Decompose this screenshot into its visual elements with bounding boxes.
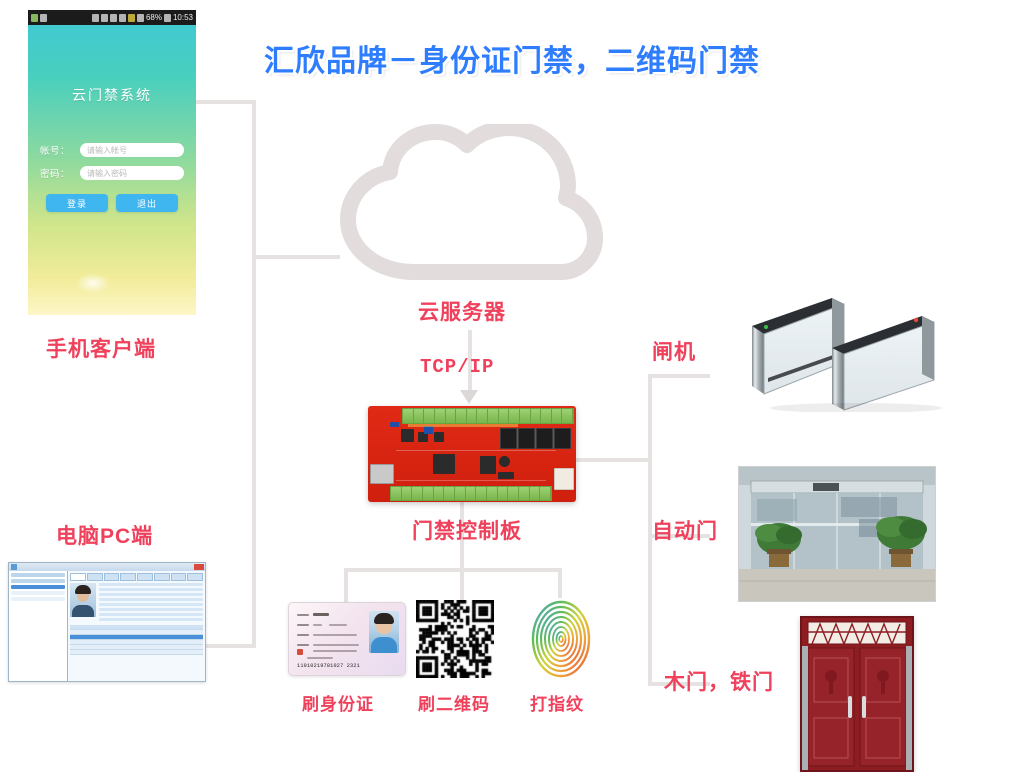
wood-iron-door-image — [800, 616, 914, 772]
idc-portrait-body — [371, 637, 397, 653]
status-left-icons — [31, 14, 47, 22]
trimmer — [390, 422, 399, 427]
capacitor-blue — [424, 426, 433, 434]
account-input[interactable]: 请输入帐号 — [80, 143, 184, 157]
connector-inputs-bar — [344, 568, 562, 572]
automatic-door-caption: 自动门 — [652, 515, 718, 545]
qr-code-image — [416, 600, 494, 678]
cloud-server-caption: 云服务器 — [418, 296, 506, 326]
pc-software-image — [8, 562, 206, 682]
ic-4 — [498, 472, 514, 479]
idc-portrait-hair — [374, 613, 394, 624]
app-title: 云门禁系统 — [28, 85, 196, 105]
pc-left-pane — [9, 571, 68, 681]
fingerprint-icon — [530, 598, 592, 678]
password-label: 密码： — [40, 166, 80, 180]
controller-board — [368, 406, 576, 502]
idc-key-2 — [297, 624, 309, 626]
pc-app-icon — [11, 564, 17, 570]
phone-client-caption: 手机客户端 — [46, 333, 156, 363]
password-input[interactable]: 请输入密码 — [80, 166, 184, 180]
pc-list-row — [11, 597, 65, 601]
rj45-connector — [370, 464, 394, 484]
memory-chip — [480, 456, 496, 474]
alarm-icon — [101, 14, 108, 22]
pc-tab — [187, 573, 203, 581]
led-row — [408, 424, 518, 427]
arrow-down-icon — [460, 390, 478, 404]
phone-glow — [76, 273, 110, 293]
cloud-icon — [336, 124, 606, 294]
pc-tab-strip — [70, 573, 203, 581]
pc-portrait — [70, 583, 96, 617]
battery-icon — [164, 14, 171, 22]
pcb-trace-1 — [396, 450, 556, 451]
connector-turnstile — [648, 374, 710, 378]
battery-percent: 68% — [146, 14, 162, 22]
terminal-bottom — [390, 486, 552, 501]
idc-key-3 — [297, 634, 309, 636]
pc-client-caption: 电脑PC端 — [56, 520, 153, 550]
connector-left-spine — [252, 100, 256, 648]
phone-status-bar: 68% 10:53 — [28, 10, 196, 25]
pc-list-selected-row — [11, 585, 65, 589]
pc-tab — [120, 573, 136, 581]
pc-data-grid — [70, 625, 203, 655]
relay-3 — [536, 428, 553, 449]
wifi-icon — [128, 14, 135, 22]
id-card-image: 11010219781027 2321 — [288, 602, 406, 676]
pc-tab — [104, 573, 120, 581]
pc-tab — [171, 573, 187, 581]
login-form: 帐号： 请输入帐号 密码： 请输入密码 登录 退出 — [28, 143, 196, 212]
mcu-chip — [433, 454, 455, 474]
terminal-top — [402, 408, 574, 424]
password-row: 密码： 请输入密码 — [40, 166, 184, 180]
account-row: 帐号： 请输入帐号 — [40, 143, 184, 157]
pcb-trace-2 — [396, 480, 546, 481]
sdcard-icon — [119, 14, 126, 22]
connector-finger-drop — [558, 568, 562, 598]
idc-val-5 — [313, 650, 357, 652]
idc-val-1 — [313, 613, 329, 616]
pc-tab — [137, 573, 153, 581]
relay-4 — [554, 428, 571, 449]
status-time: 10:53 — [173, 14, 193, 22]
pc-list-row — [11, 591, 65, 595]
pc-right-pane — [68, 571, 205, 681]
turnstile-image — [736, 282, 966, 412]
id-card-caption: 刷身份证 — [302, 690, 374, 715]
phone-mockup: 68% 10:53 云门禁系统 帐号： 请输入帐号 密码： 请输入密码 登录 退… — [28, 10, 196, 315]
bluetooth-icon — [92, 14, 99, 22]
connector-to-cloud — [252, 255, 340, 259]
connector-phone-top — [196, 100, 256, 104]
pc-body — [9, 571, 205, 681]
protocol-label: TCP/IP — [420, 356, 494, 378]
id-card-number: 11010219781027 2321 — [297, 663, 360, 669]
white-connector — [554, 468, 574, 490]
idc-key-1 — [297, 614, 309, 616]
automatic-door-image — [738, 466, 936, 602]
idc-val-2 — [313, 624, 322, 626]
pc-portrait-hair — [75, 585, 91, 594]
idc-portrait — [369, 611, 399, 653]
login-button-row: 登录 退出 — [40, 194, 184, 212]
download-icon — [31, 14, 38, 22]
connector-board-right — [576, 458, 652, 462]
connector-qr-drop — [460, 568, 464, 600]
exit-button[interactable]: 退出 — [116, 194, 178, 212]
qr-canvas — [416, 600, 494, 678]
ic-1 — [401, 429, 414, 442]
pc-form-fields — [99, 583, 203, 623]
clock-icon — [40, 14, 47, 22]
qr-code-caption: 刷二维码 — [418, 690, 490, 715]
idc-val-6 — [307, 657, 333, 659]
account-label: 帐号： — [40, 143, 80, 157]
idc-val-3 — [313, 634, 357, 636]
turnstile-caption: 闸机 — [652, 336, 696, 366]
idc-val-2b — [329, 624, 347, 626]
relay-1 — [500, 428, 517, 449]
signal-icon — [137, 14, 144, 22]
pc-close-icon — [194, 564, 204, 570]
pc-tab — [154, 573, 170, 581]
pc-tab — [87, 573, 103, 581]
ic-3 — [434, 432, 444, 442]
idc-val-4 — [313, 644, 359, 646]
fingerprint-caption: 打指纹 — [530, 690, 584, 715]
connector-idcard-drop — [344, 568, 348, 602]
pc-tab — [70, 573, 86, 581]
vibrate-icon — [110, 14, 117, 22]
pc-titlebar — [9, 563, 205, 571]
pc-filter-field — [11, 579, 65, 583]
wood-iron-door-caption: 木门，铁门 — [664, 666, 774, 696]
buzzer — [499, 456, 510, 467]
login-button[interactable]: 登录 — [46, 194, 108, 212]
relay-2 — [518, 428, 535, 449]
controller-caption: 门禁控制板 — [412, 515, 522, 545]
diagram-stage: 汇欣品牌－身份证门禁，二维码门禁 68% — [0, 0, 1024, 768]
status-right-icons: 68% 10:53 — [92, 14, 193, 22]
pc-portrait-body — [72, 605, 94, 617]
idc-emblem-icon — [297, 649, 303, 655]
pc-search-field — [11, 573, 65, 577]
idc-key-4 — [297, 644, 309, 646]
